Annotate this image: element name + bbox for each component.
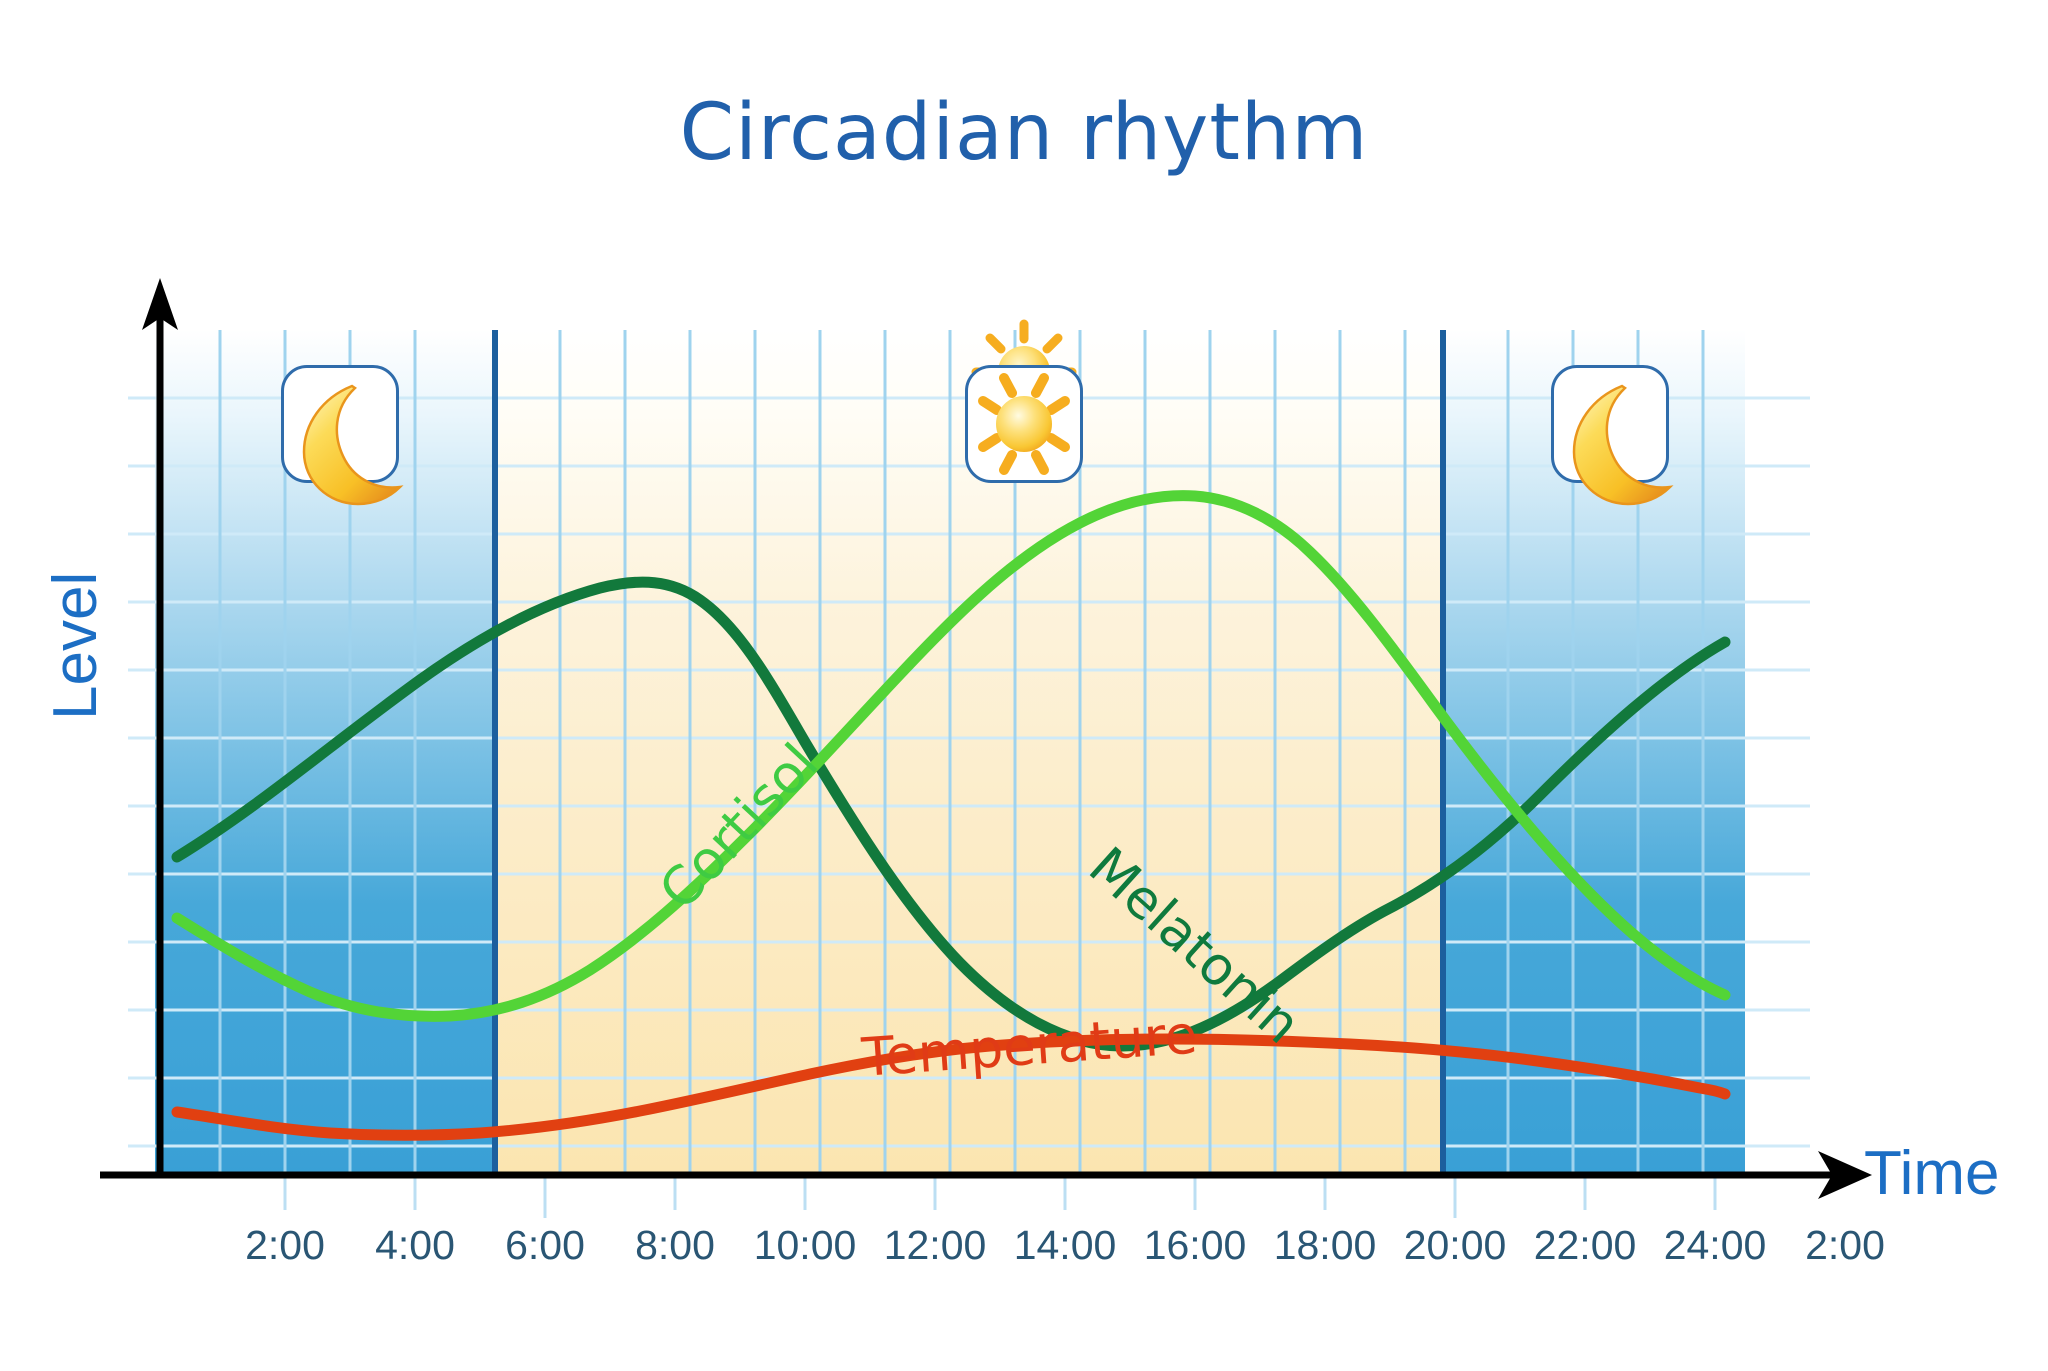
x-tick-label: 4:00 <box>375 1222 455 1269</box>
moon-icon-frame <box>281 365 399 483</box>
x-tick-label: 14:00 <box>1014 1222 1117 1269</box>
circadian-rhythm-figure: Circadian rhythm <box>0 0 2048 1371</box>
x-tick-label: 24:00 <box>1664 1222 1767 1269</box>
x-tick-label: 18:00 <box>1274 1222 1377 1269</box>
x-tick-label: 2:00 <box>245 1222 325 1269</box>
x-tick-label: 22:00 <box>1534 1222 1637 1269</box>
x-tick-label: 2:00 <box>1805 1222 1885 1269</box>
x-axis-label: Time <box>1864 1138 1999 1209</box>
x-tick-label: 12:00 <box>884 1222 987 1269</box>
x-tick-label: 8:00 <box>635 1222 715 1269</box>
y-axis-label: Level <box>40 572 111 720</box>
x-tick-label: 20:00 <box>1404 1222 1507 1269</box>
chart-canvas <box>0 0 2048 1371</box>
sun-icon-frame <box>965 365 1083 483</box>
x-tick-label: 10:00 <box>754 1222 857 1269</box>
moon-icon-frame <box>1551 365 1669 483</box>
x-tick-label: 6:00 <box>505 1222 585 1269</box>
x-tick-label: 16:00 <box>1144 1222 1247 1269</box>
